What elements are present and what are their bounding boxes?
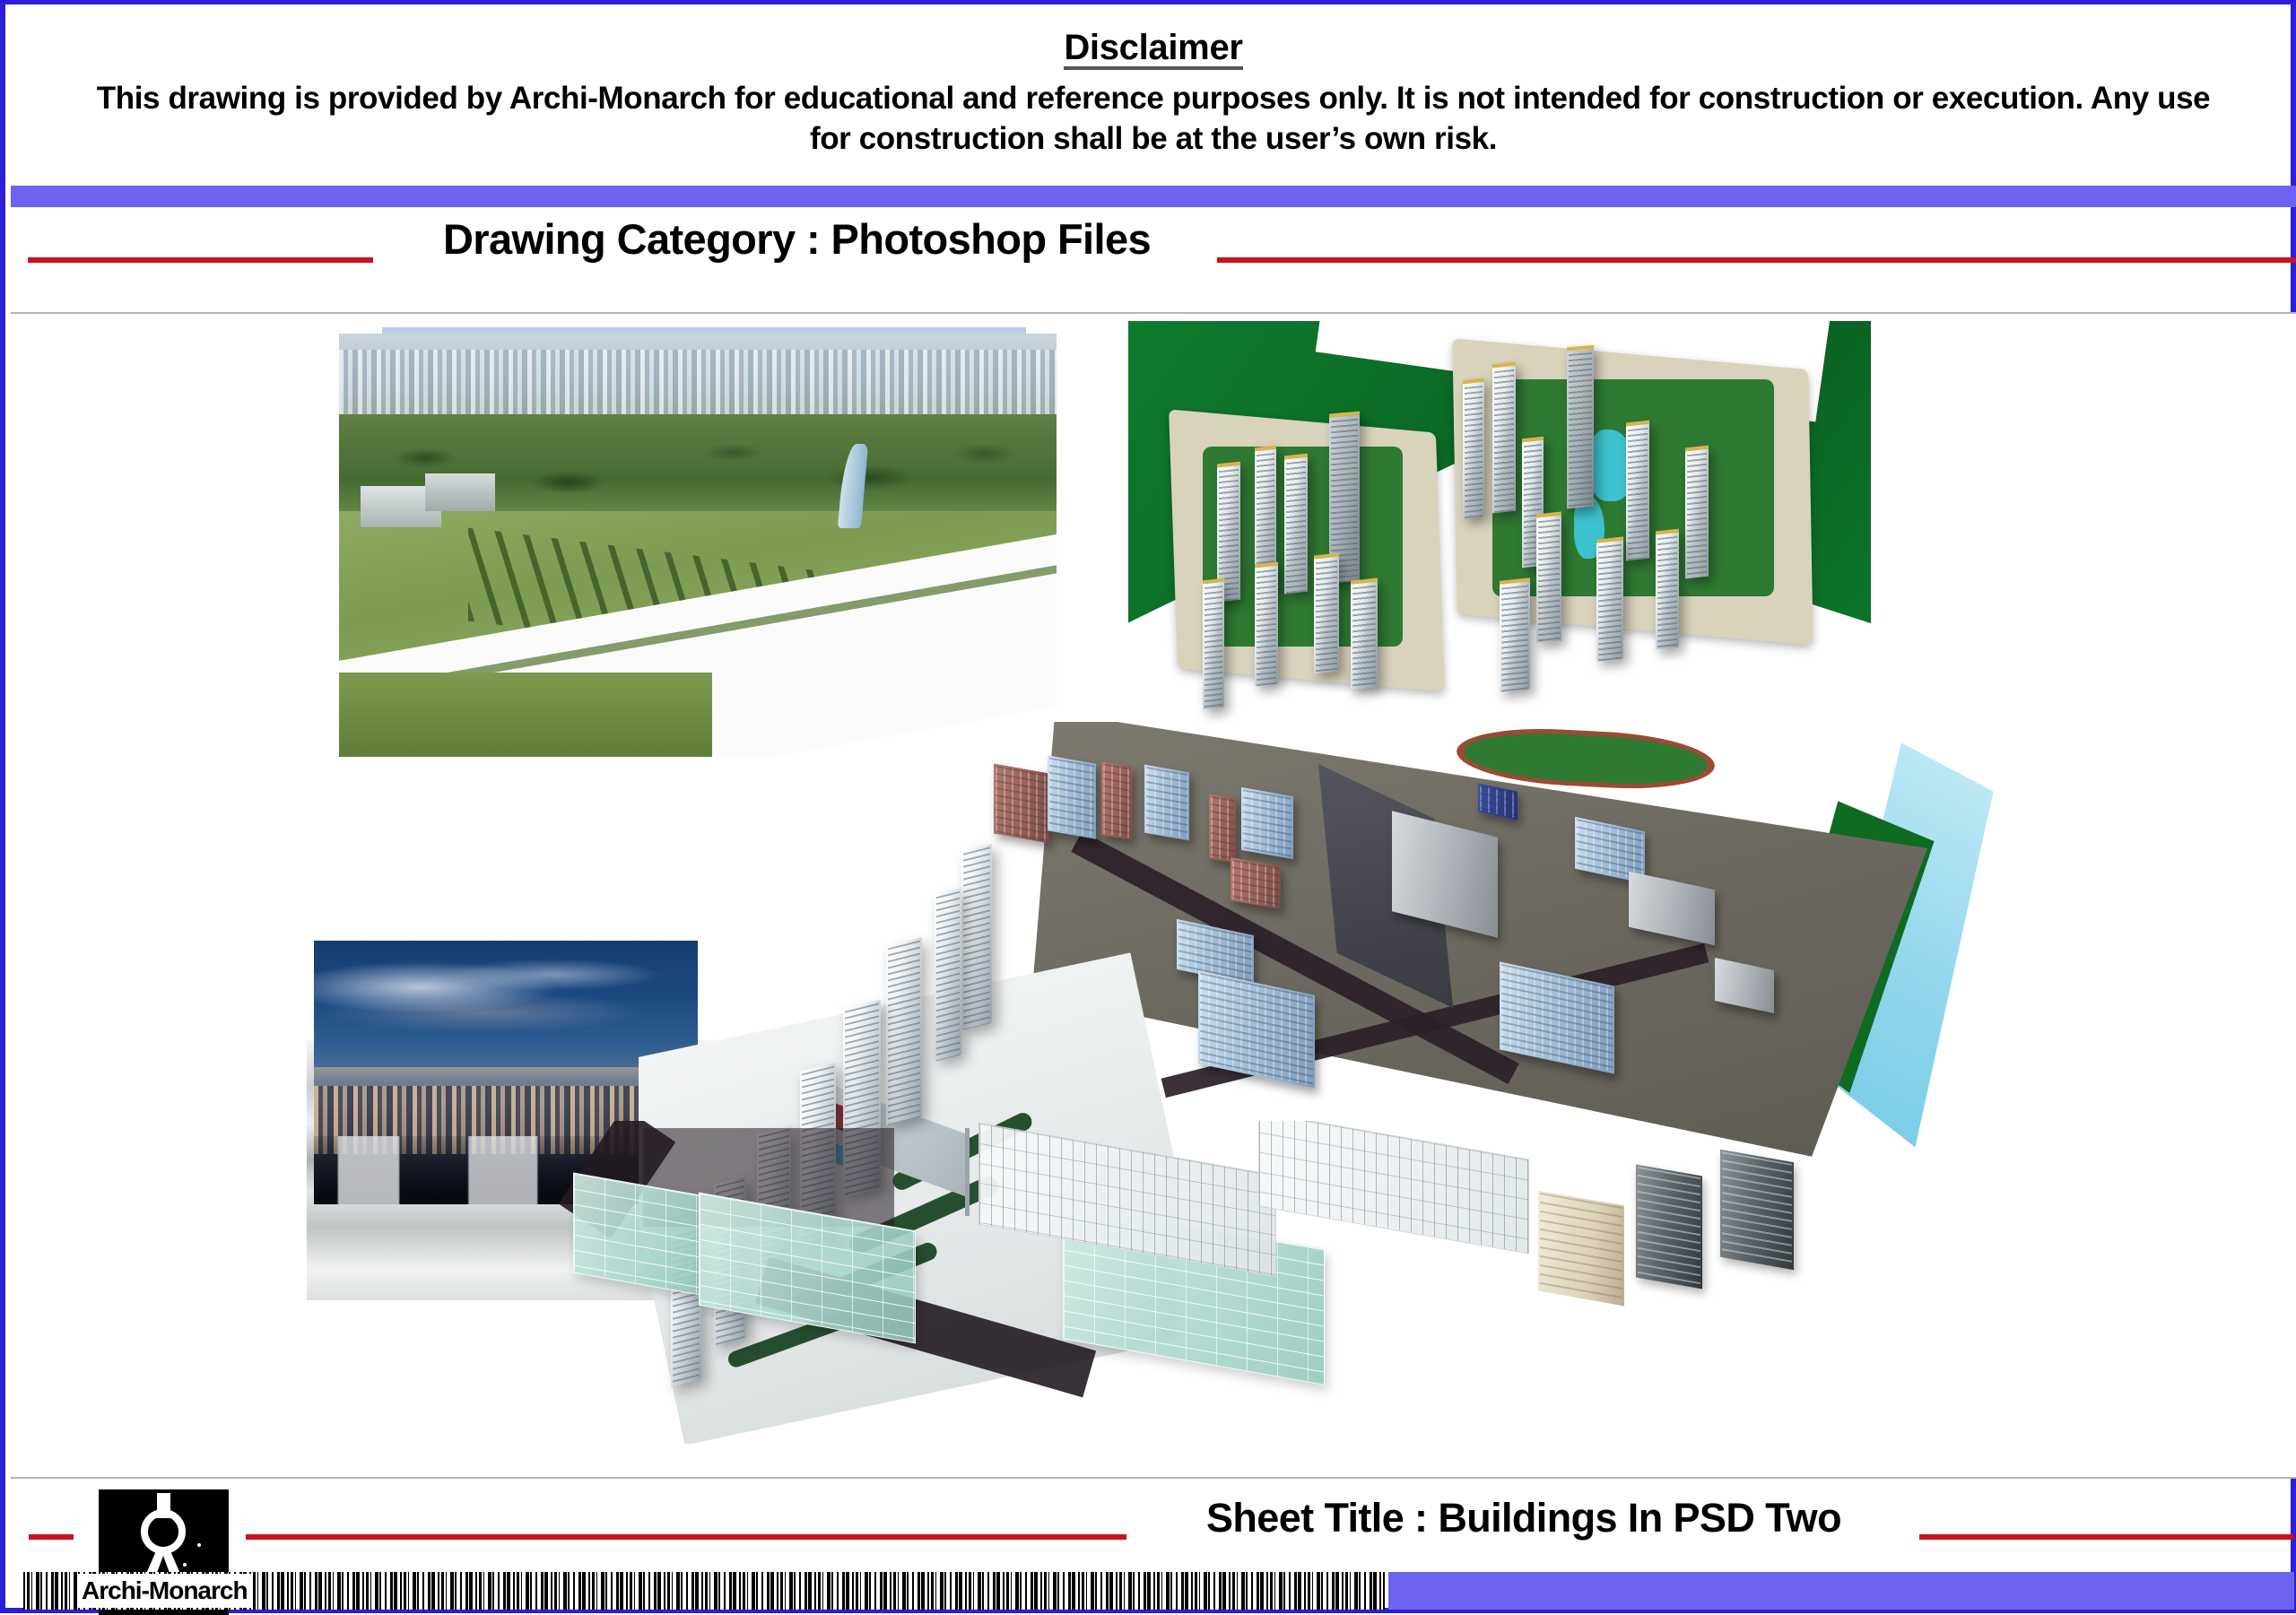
tower-e7: [1536, 511, 1561, 643]
footer-rule-right: [1919, 1534, 2294, 1540]
drawing-canvas: [11, 314, 2296, 1477]
sheet-title-label: Sheet Title : Buildings In PSD Two: [1126, 1495, 1921, 1541]
footer-rule-left: [246, 1534, 1126, 1540]
brick-block-c: [1209, 794, 1236, 864]
tower-w6: [1255, 561, 1278, 686]
slab-2: [935, 888, 961, 1061]
disclaimer-block: Disclaimer This drawing is provided by A…: [11, 9, 2296, 184]
tower-e8: [1596, 536, 1623, 661]
tower-w8: [1351, 578, 1378, 690]
slab-3: [886, 937, 922, 1125]
header-accent-bar: [11, 186, 2296, 207]
tower-w7: [1314, 553, 1339, 674]
brand-label: Archi-Monarch: [77, 1574, 252, 1608]
sheet-footer: Sheet Title : Buildings In PSD Two Archi…: [11, 1479, 2296, 1612]
glass-block-c: [1241, 787, 1293, 859]
structural-frame-b: [1258, 1121, 1529, 1254]
dark-block-a: [1636, 1164, 1702, 1289]
background-city: [339, 334, 1057, 422]
plate-green-landscape-site-render: [339, 334, 1057, 757]
cream-block: [1538, 1190, 1624, 1306]
tower-e9: [1656, 528, 1679, 649]
site-building-b: [425, 473, 495, 511]
glass-volume-a: [573, 1173, 700, 1296]
tower-e1: [1463, 378, 1484, 519]
tower-e6: [1685, 445, 1709, 578]
mast-pole: [965, 1128, 970, 1216]
plate-mint-glass-volumes-render: [531, 1121, 1930, 1471]
footer-rule-tiny: [29, 1534, 74, 1540]
category-rule-left: [28, 257, 373, 263]
drawing-sheet: Disclaimer This drawing is provided by A…: [0, 0, 2296, 1613]
disclaimer-body: This drawing is provided by Archi-Monarc…: [95, 79, 2212, 160]
dark-block-b: [1720, 1150, 1794, 1270]
tower-w3: [1284, 453, 1308, 594]
tower-e2: [1492, 361, 1516, 513]
drawing-category-label: Drawing Category : Photoshop Files: [373, 218, 1221, 260]
drawing-category-row: Drawing Category : Photoshop Files: [11, 213, 2296, 311]
slab-1: [961, 844, 992, 1030]
category-rule-right: [1217, 257, 2296, 263]
plate-residential-masterplan-render: [1128, 321, 1871, 738]
brick-block-d: [1231, 857, 1281, 909]
tower-e10: [1500, 578, 1530, 693]
footer-accent-bar: [1388, 1572, 2294, 1610]
tower-e3: [1567, 345, 1594, 509]
foreground-lawn: [339, 673, 712, 757]
tower-w5: [1203, 578, 1224, 710]
disclaimer-title: Disclaimer: [1064, 9, 1242, 70]
tower-e5: [1626, 420, 1649, 560]
